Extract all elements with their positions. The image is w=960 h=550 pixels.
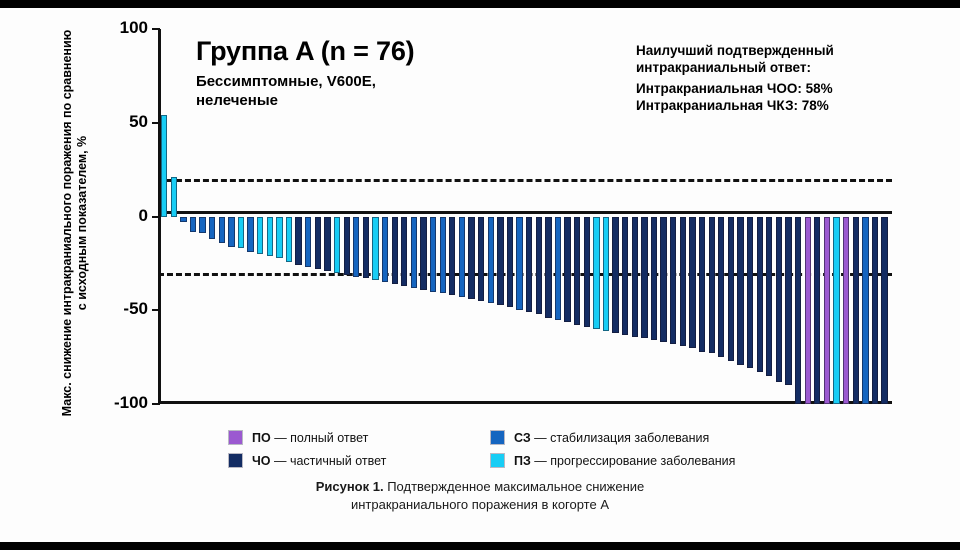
waterfall-bar [641, 217, 647, 339]
waterfall-bar [238, 217, 244, 249]
waterfall-bar [324, 217, 330, 271]
slide-canvas: Макс. снижение интракраниального поражен… [0, 0, 960, 550]
legend-item: ПЗ — прогрессирование заболевания [490, 453, 808, 468]
waterfall-bar [180, 217, 186, 223]
waterfall-bar [171, 177, 177, 216]
legend-label: ПЗ — прогрессирование заболевания [514, 454, 735, 468]
waterfall-bar [382, 217, 388, 283]
figure-slide: Макс. снижение интракраниального поражен… [0, 8, 960, 542]
annotation-heading: Наилучший подтвержденный интракраниальны… [636, 42, 834, 76]
caption-label: Рисунок 1. [316, 479, 384, 494]
waterfall-bar [785, 217, 791, 386]
waterfall-bar [420, 217, 426, 290]
chart-subtitle: Бессимптомные, V600E, нелеченые [196, 72, 376, 110]
waterfall-bar [680, 217, 686, 346]
waterfall-bar [392, 217, 398, 285]
waterfall-bar [488, 217, 494, 303]
waterfall-bar [872, 217, 878, 405]
waterfall-bar [536, 217, 542, 315]
waterfall-bar [795, 217, 801, 405]
waterfall-bar [555, 217, 561, 320]
figure-caption: Рисунок 1. Подтвержденное максимальное с… [180, 478, 780, 514]
waterfall-bar [593, 217, 599, 330]
waterfall-bar [814, 217, 820, 405]
caption-text: Подтвержденное максимальное снижение [384, 479, 645, 494]
waterfall-bar [757, 217, 763, 373]
waterfall-bar [622, 217, 628, 335]
waterfall-bar [728, 217, 734, 361]
waterfall-bar [507, 217, 513, 307]
waterfall-bar [584, 217, 590, 328]
waterfall-bar [305, 217, 311, 268]
waterfall-bar [699, 217, 705, 352]
waterfall-bar [545, 217, 551, 318]
waterfall-bar [161, 115, 167, 216]
waterfall-bar [564, 217, 570, 322]
waterfall-bar [612, 217, 618, 333]
waterfall-bar [363, 217, 369, 279]
waterfall-bar [440, 217, 446, 294]
waterfall-bar [497, 217, 503, 305]
waterfall-bar [353, 217, 359, 277]
waterfall-bar [843, 217, 849, 405]
waterfall-bar [574, 217, 580, 326]
chart-legend: ПО — полный ответСЗ — стабилизация забол… [228, 426, 808, 472]
waterfall-bar [276, 217, 282, 258]
waterfall-bar [853, 217, 859, 405]
waterfall-bar [689, 217, 695, 348]
y-tick-label: 50 [96, 112, 148, 132]
legend-swatch [490, 453, 505, 468]
y-tick-label: -50 [96, 299, 148, 319]
waterfall-bar [805, 217, 811, 405]
waterfall-bar [449, 217, 455, 296]
waterfall-bar [881, 217, 887, 405]
y-tick-label: 100 [96, 18, 148, 38]
waterfall-bar [209, 217, 215, 240]
caption-text-line2: интракраниального поражения в когорте A [351, 497, 609, 512]
waterfall-bar [401, 217, 407, 286]
waterfall-bar [344, 217, 350, 275]
chart-title: Группа A (n = 76) [196, 36, 414, 67]
waterfall-bar [833, 217, 839, 405]
legend-label: СЗ — стабилизация заболевания [514, 431, 709, 445]
legend-swatch [228, 430, 243, 445]
waterfall-bar [295, 217, 301, 266]
waterfall-bar [709, 217, 715, 354]
waterfall-bar [766, 217, 772, 376]
waterfall-bar [516, 217, 522, 311]
y-tick-label: -100 [96, 393, 148, 413]
legend-swatch [228, 453, 243, 468]
waterfall-bar [219, 217, 225, 243]
waterfall-bar [478, 217, 484, 301]
waterfall-bar [372, 217, 378, 281]
waterfall-bar [334, 217, 340, 273]
waterfall-bar [257, 217, 263, 255]
legend-label: ПО — полный ответ [252, 431, 368, 445]
waterfall-bar [670, 217, 676, 345]
waterfall-bar [603, 217, 609, 331]
annotation-dcr: Интракраниальная ЧКЗ: 78% [636, 97, 834, 114]
waterfall-bar [660, 217, 666, 343]
waterfall-bar [862, 217, 868, 405]
waterfall-bar [824, 217, 830, 405]
waterfall-bar [459, 217, 465, 298]
waterfall-bar [247, 217, 253, 253]
waterfall-bar [526, 217, 532, 313]
waterfall-bar [315, 217, 321, 270]
legend-item: ЧО — частичный ответ [228, 453, 490, 468]
waterfall-bar [651, 217, 657, 341]
legend-swatch [490, 430, 505, 445]
best-response-annotation: Наилучший подтвержденный интракраниальны… [636, 42, 834, 114]
waterfall-bar [776, 217, 782, 382]
legend-label: ЧО — частичный ответ [252, 454, 386, 468]
waterfall-bar [737, 217, 743, 365]
waterfall-bar [267, 217, 273, 256]
legend-item: ПО — полный ответ [228, 430, 490, 445]
waterfall-bar [286, 217, 292, 262]
waterfall-bar [190, 217, 196, 232]
annotation-orr: Интракраниальная ЧОО: 58% [636, 80, 834, 97]
y-tick-label: 0 [96, 206, 148, 226]
waterfall-bar [718, 217, 724, 358]
waterfall-bar [228, 217, 234, 247]
waterfall-bar [747, 217, 753, 369]
y-axis-label: Макс. снижение интракраниального поражен… [60, 28, 90, 418]
legend-item: СЗ — стабилизация заболевания [490, 430, 808, 445]
waterfall-bar [632, 217, 638, 337]
waterfall-bar [199, 217, 205, 234]
waterfall-bar [430, 217, 436, 292]
waterfall-bar [468, 217, 474, 300]
waterfall-bar [411, 217, 417, 288]
